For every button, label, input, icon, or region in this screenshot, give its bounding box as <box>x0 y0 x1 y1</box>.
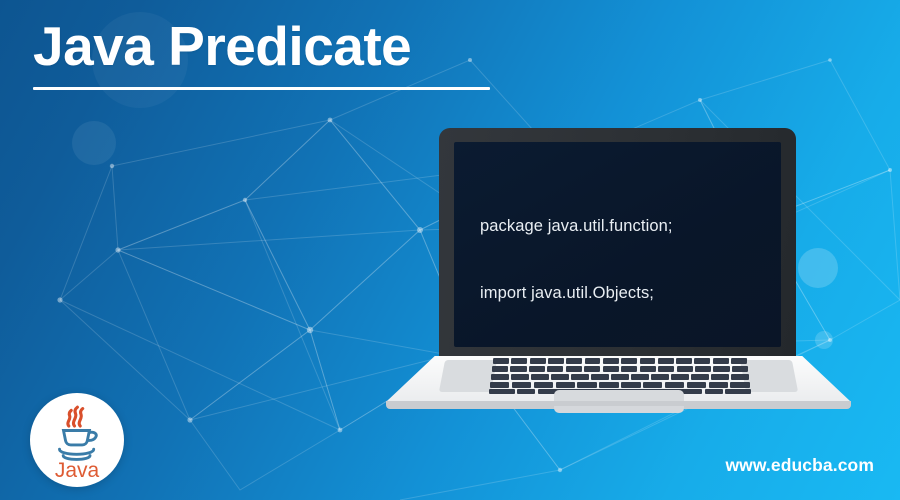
title-underline <box>33 87 490 90</box>
code-line: import java.util.Objects; <box>480 282 775 304</box>
code-line: package java.util.function; <box>480 215 775 237</box>
laptop-front-lip <box>554 406 684 413</box>
page-title: Java Predicate <box>33 14 553 78</box>
title-block: Java Predicate <box>33 14 553 90</box>
site-watermark: www.educba.com <box>725 455 874 476</box>
laptop-base <box>386 356 851 410</box>
code-block: package java.util.function; import java.… <box>480 170 775 347</box>
banner-image: Java Predicate package java.util.functio… <box>0 0 900 500</box>
bokeh-circle-top-left <box>72 121 116 165</box>
java-logo-icon: Java <box>30 393 124 487</box>
java-wordmark: Java <box>55 459 100 482</box>
laptop-screen: package java.util.function; import java.… <box>454 142 781 347</box>
laptop-keyboard <box>489 358 751 393</box>
laptop-illustration: package java.util.function; import java.… <box>386 128 851 428</box>
java-logo-badge: Java <box>30 393 124 487</box>
